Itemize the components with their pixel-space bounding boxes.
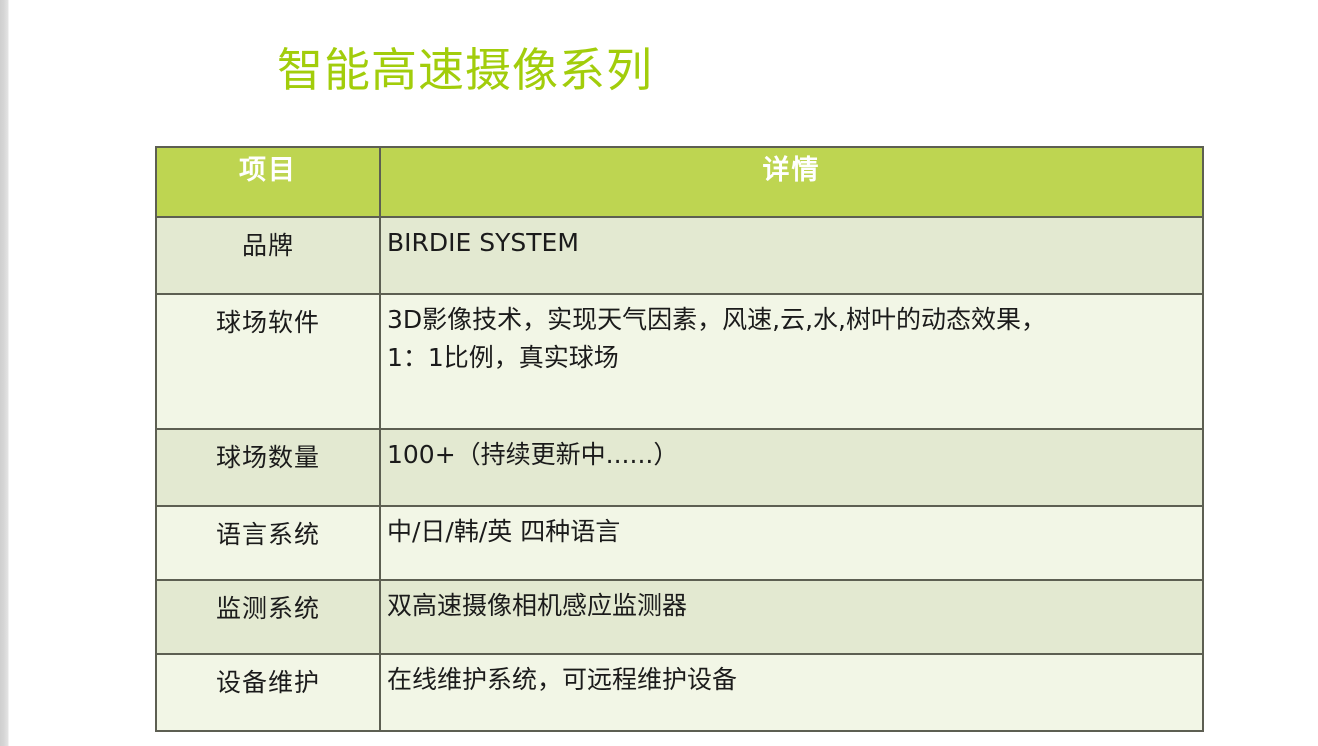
row-label-brand: 品牌 (156, 217, 380, 294)
detail-line: 100+（持续更新中......） (387, 436, 1202, 474)
table-header: 项目 详情 (156, 147, 1203, 217)
specification-table: 项目 详情 品牌 BIRDIE SYSTEM 球场软件 3D影像技术，实现天气因… (155, 146, 1204, 732)
row-detail-course-software: 3D影像技术，实现天气因素，风速,云,水,树叶的动态效果， 1：1比例，真实球场 (380, 294, 1203, 429)
detail-line: 3D影像技术，实现天气因素，风速,云,水,树叶的动态效果， (387, 301, 1202, 339)
table-row: 球场软件 3D影像技术，实现天气因素，风速,云,水,树叶的动态效果， 1：1比例… (156, 294, 1203, 429)
table-header-row: 项目 详情 (156, 147, 1203, 217)
row-detail-language-system: 中/日/韩/英 四种语言 (380, 506, 1203, 580)
row-detail-brand: BIRDIE SYSTEM (380, 217, 1203, 294)
row-label-course-software: 球场软件 (156, 294, 380, 429)
row-label-equipment-maintenance: 设备维护 (156, 654, 380, 731)
row-detail-equipment-maintenance: 在线维护系统，可远程维护设备 (380, 654, 1203, 731)
detail-line: 1：1比例，真实球场 (387, 339, 1202, 377)
detail-line: 在线维护系统，可远程维护设备 (387, 661, 1202, 699)
slide-canvas: 智能高速摄像系列 项目 详情 品牌 BIRDIE SYSTEM (9, 8, 1310, 736)
row-label-language-system: 语言系统 (156, 506, 380, 580)
detail-line: 双高速摄像相机感应监测器 (387, 587, 1202, 625)
table-body: 品牌 BIRDIE SYSTEM 球场软件 3D影像技术，实现天气因素，风速,云… (156, 217, 1203, 731)
detail-line: BIRDIE SYSTEM (387, 224, 1202, 262)
table-row: 品牌 BIRDIE SYSTEM (156, 217, 1203, 294)
page-title: 智能高速摄像系列 (277, 42, 653, 98)
slide-frame: 智能高速摄像系列 项目 详情 品牌 BIRDIE SYSTEM (0, 0, 1318, 746)
row-detail-course-count: 100+（持续更新中......） (380, 429, 1203, 506)
table-row: 监测系统 双高速摄像相机感应监测器 (156, 580, 1203, 654)
row-label-monitoring-system: 监测系统 (156, 580, 380, 654)
column-header-item: 项目 (156, 147, 380, 217)
table-row: 球场数量 100+（持续更新中......） (156, 429, 1203, 506)
column-header-detail: 详情 (380, 147, 1203, 217)
row-detail-monitoring-system: 双高速摄像相机感应监测器 (380, 580, 1203, 654)
table-row: 设备维护 在线维护系统，可远程维护设备 (156, 654, 1203, 731)
detail-line: 中/日/韩/英 四种语言 (387, 513, 1202, 551)
table-row: 语言系统 中/日/韩/英 四种语言 (156, 506, 1203, 580)
row-label-course-count: 球场数量 (156, 429, 380, 506)
